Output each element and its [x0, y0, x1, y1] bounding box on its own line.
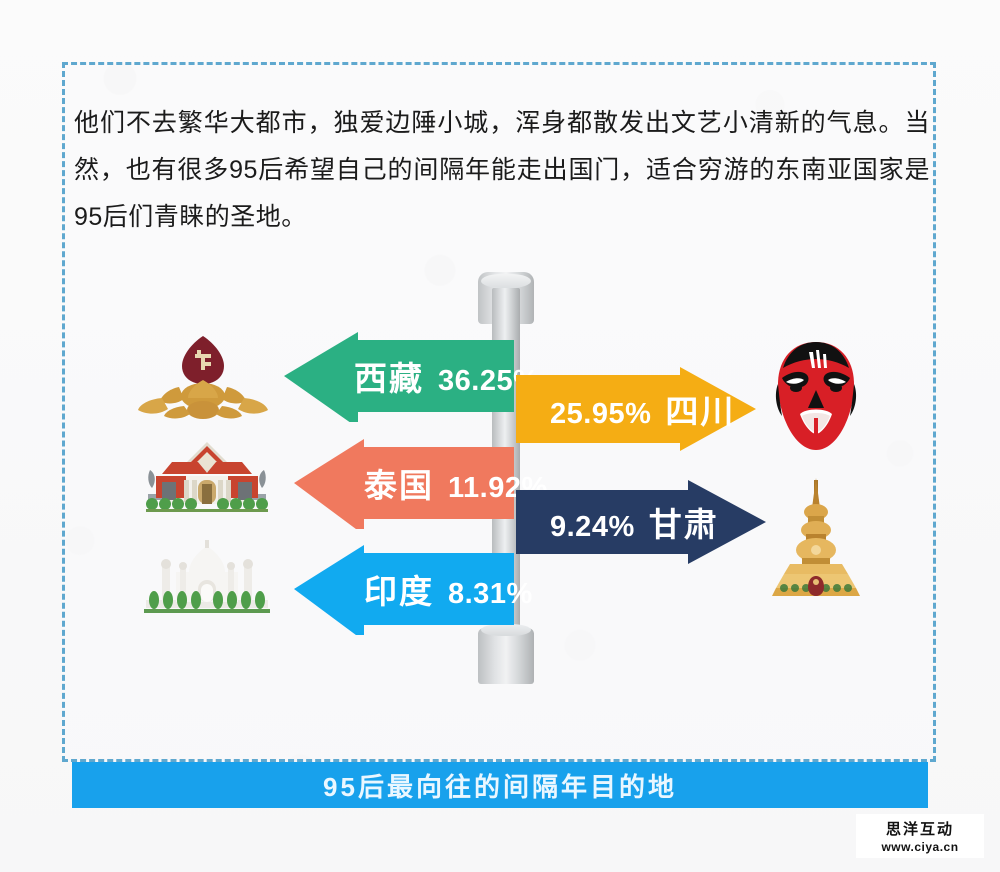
arrow-place-label: 四川	[665, 385, 735, 433]
arrow-right-sichuan[interactable]: 25.95% 四川	[516, 365, 758, 453]
arrow-pct-label: 25.95%	[550, 398, 651, 431]
arrow-right-gansu[interactable]: 9.24% 甘肃	[516, 478, 768, 566]
arrow-place-label: 西藏	[354, 352, 424, 400]
arrow-place-label: 甘肃	[649, 498, 719, 546]
thai-temple-icon	[132, 432, 282, 532]
arrow-left-thailand[interactable]: 泰国 11.92%	[292, 437, 514, 529]
footer-watermark: 思洋互动 www.ciya.cn	[856, 814, 984, 858]
arrow-left-tibet[interactable]: 西藏 36.25%	[282, 330, 514, 422]
signpost-base	[478, 628, 534, 684]
banner-title: 95后最向往的间隔年目的地	[323, 767, 677, 804]
arrow-pct-label: 8.31%	[448, 578, 533, 611]
arrow-place-label: 印度	[364, 565, 434, 613]
sichuan-opera-mask-icon	[764, 338, 868, 456]
lotus-tibet-icon	[132, 330, 274, 426]
arrow-pct-label: 9.24%	[550, 511, 635, 544]
taj-mahal-icon	[132, 538, 282, 634]
brand-name: 思洋互动	[886, 818, 954, 839]
intro-paragraph: 他们不去繁华大都市，独爱边陲小城，浑身都散发出文艺小清新的气息。当然，也有很多9…	[74, 100, 930, 241]
arrow-place-label: 泰国	[364, 459, 434, 507]
brand-url: www.ciya.cn	[881, 840, 958, 854]
golden-pagoda-icon	[768, 476, 864, 598]
bottom-banner: 95后最向往的间隔年目的地	[72, 762, 928, 808]
arrow-left-india[interactable]: 印度 8.31%	[292, 543, 514, 635]
